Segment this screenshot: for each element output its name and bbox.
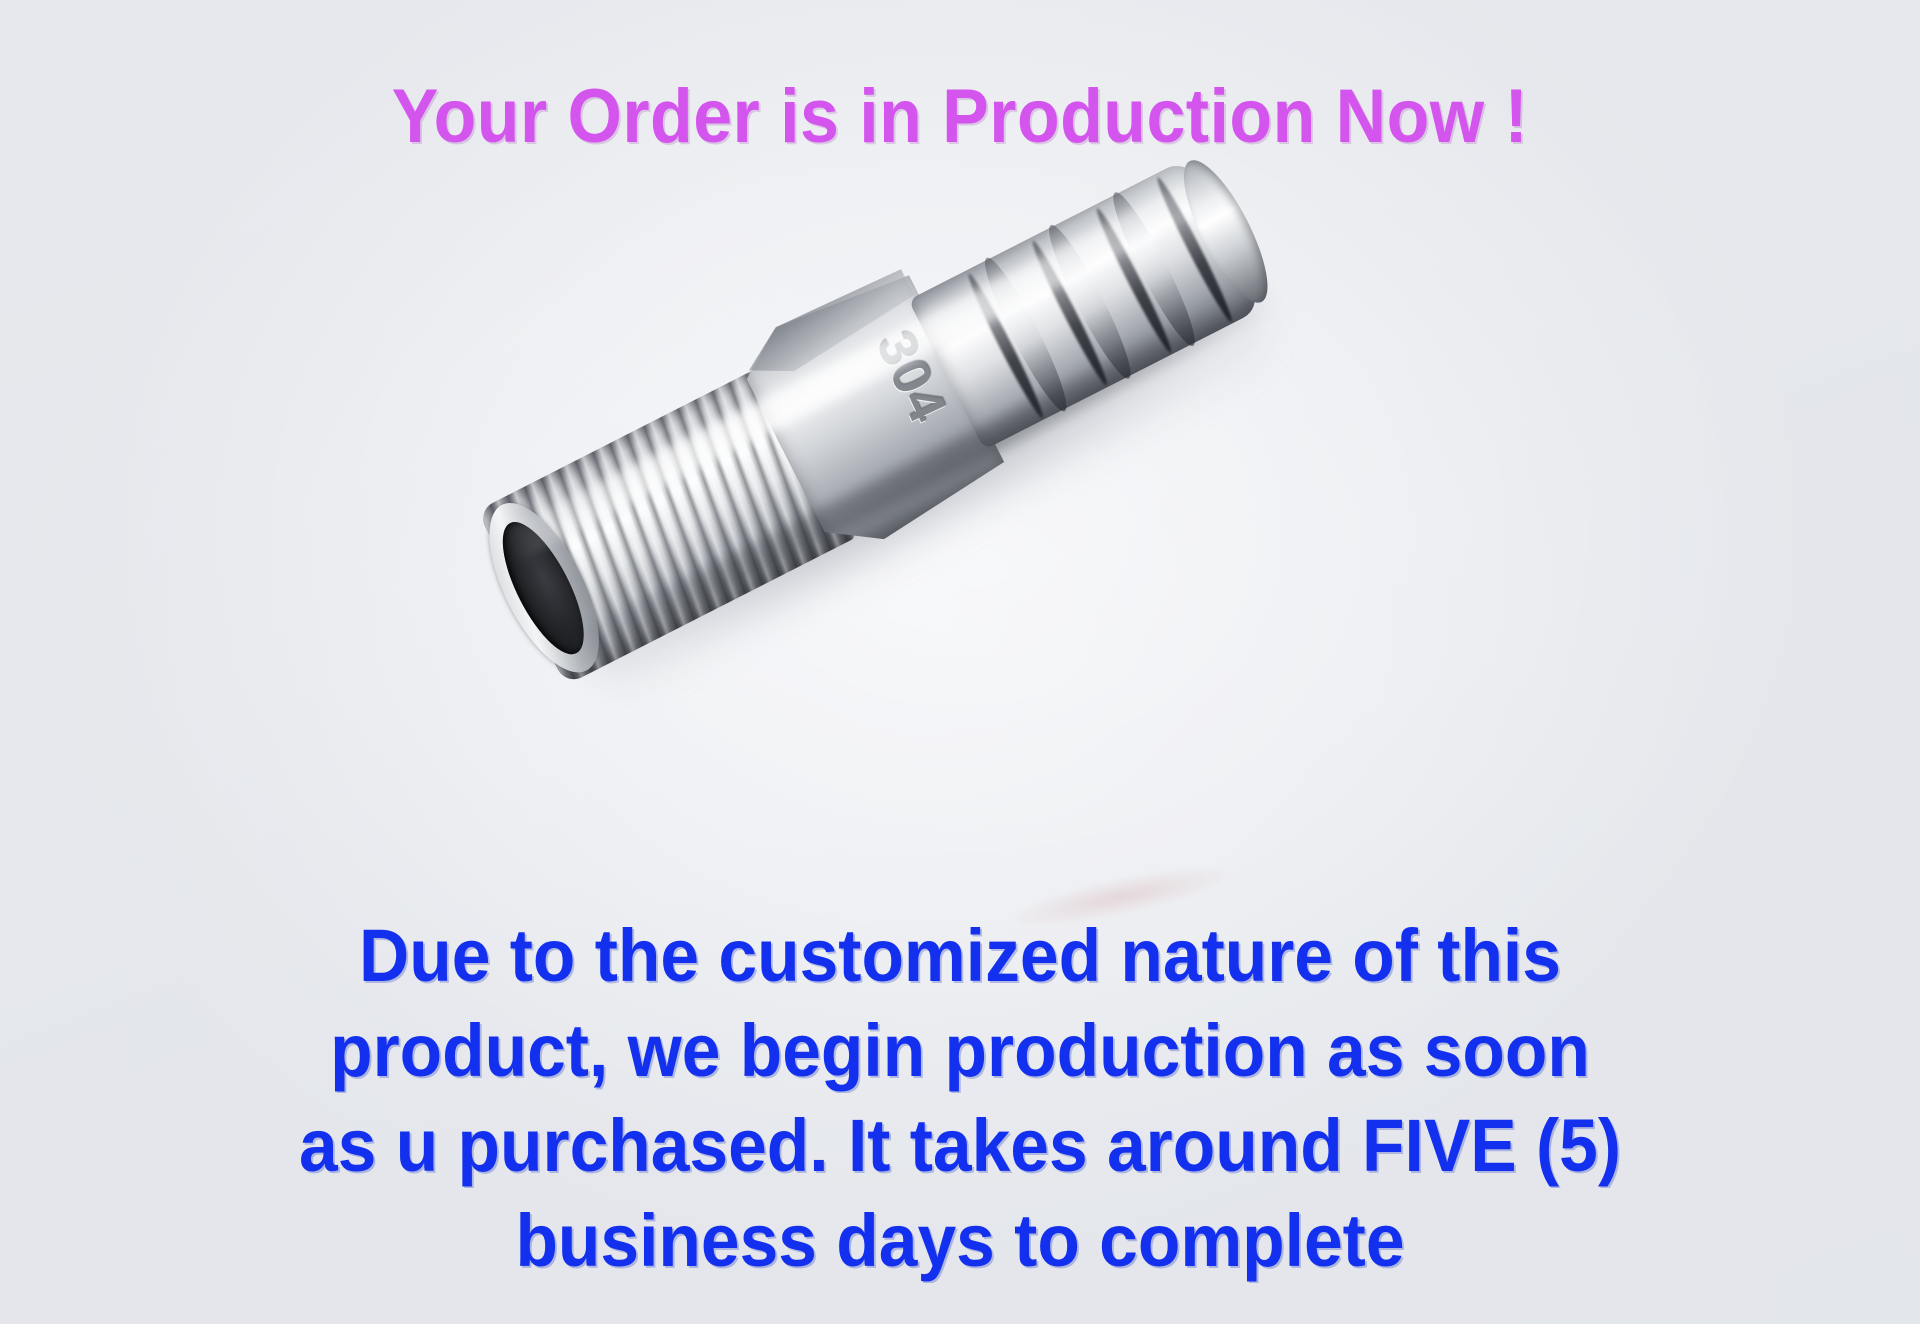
promo-image-canvas: 304 Your Order is in Production Now ! Du…	[0, 0, 1920, 1324]
message-line: Due to the customized nature of this	[58, 908, 1863, 1003]
headline-text: Your Order is in Production Now !	[77, 74, 1843, 160]
message-line: as u purchased. It takes around FIVE (5)	[58, 1098, 1863, 1193]
message-line: product, we begin production as soon	[58, 1003, 1863, 1098]
message-line: business days to complete	[58, 1193, 1863, 1288]
production-notice-message: Due to the customized nature of this pro…	[0, 908, 1920, 1288]
